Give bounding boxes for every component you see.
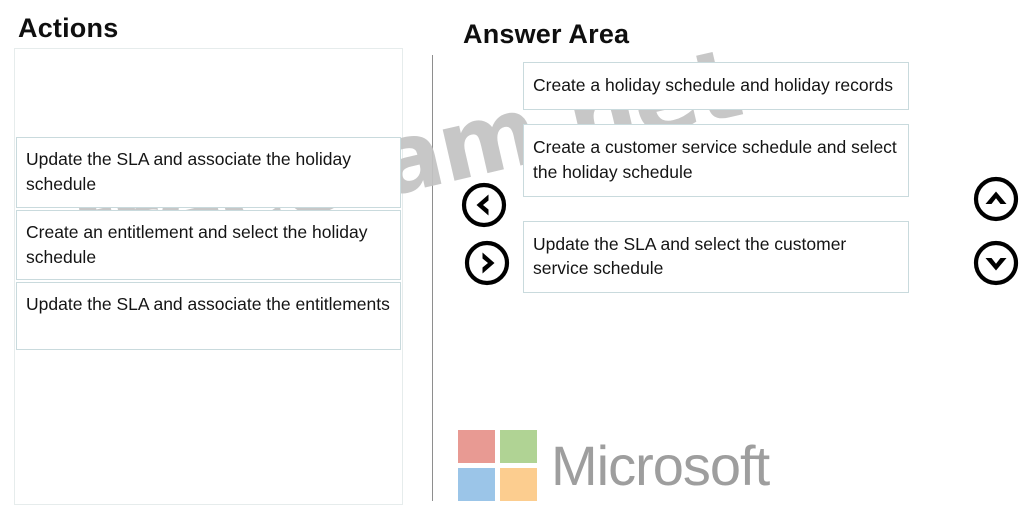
logo-square-red: [458, 430, 495, 463]
answer-item[interactable]: Create a holiday schedule and holiday re…: [523, 62, 909, 110]
action-item[interactable]: Create an entitlement and select the hol…: [16, 210, 401, 281]
chevron-up-circle-icon: [972, 175, 1020, 223]
microsoft-logo-squares: [458, 430, 537, 501]
exam-question-canvas: freecram.net Actions Update the SLA and …: [0, 0, 1027, 511]
answer-area-heading: Answer Area: [463, 19, 629, 50]
action-item[interactable]: Update the SLA and associate the holiday…: [16, 137, 401, 208]
microsoft-wordmark: Microsoft: [551, 438, 769, 494]
answer-area-list: Create a holiday schedule and holiday re…: [523, 62, 909, 293]
chevron-right-circle-icon: [463, 239, 511, 287]
chevron-left-circle-icon: [460, 181, 508, 229]
move-right-button[interactable]: [463, 239, 511, 287]
answer-item[interactable]: Update the SLA and select the customer s…: [523, 221, 909, 294]
logo-square-yellow: [500, 468, 537, 501]
microsoft-logo: Microsoft: [458, 430, 769, 501]
move-up-button[interactable]: [972, 175, 1020, 223]
chevron-down-circle-icon: [972, 239, 1020, 287]
vertical-divider: [432, 55, 433, 501]
move-left-button[interactable]: [460, 181, 508, 229]
actions-list: Update the SLA and associate the holiday…: [16, 137, 401, 352]
actions-heading: Actions: [18, 13, 118, 44]
move-down-button[interactable]: [972, 239, 1020, 287]
logo-square-blue: [458, 468, 495, 501]
action-item[interactable]: Update the SLA and associate the entitle…: [16, 282, 401, 350]
answer-item[interactable]: Create a customer service schedule and s…: [523, 124, 909, 197]
logo-square-green: [500, 430, 537, 463]
